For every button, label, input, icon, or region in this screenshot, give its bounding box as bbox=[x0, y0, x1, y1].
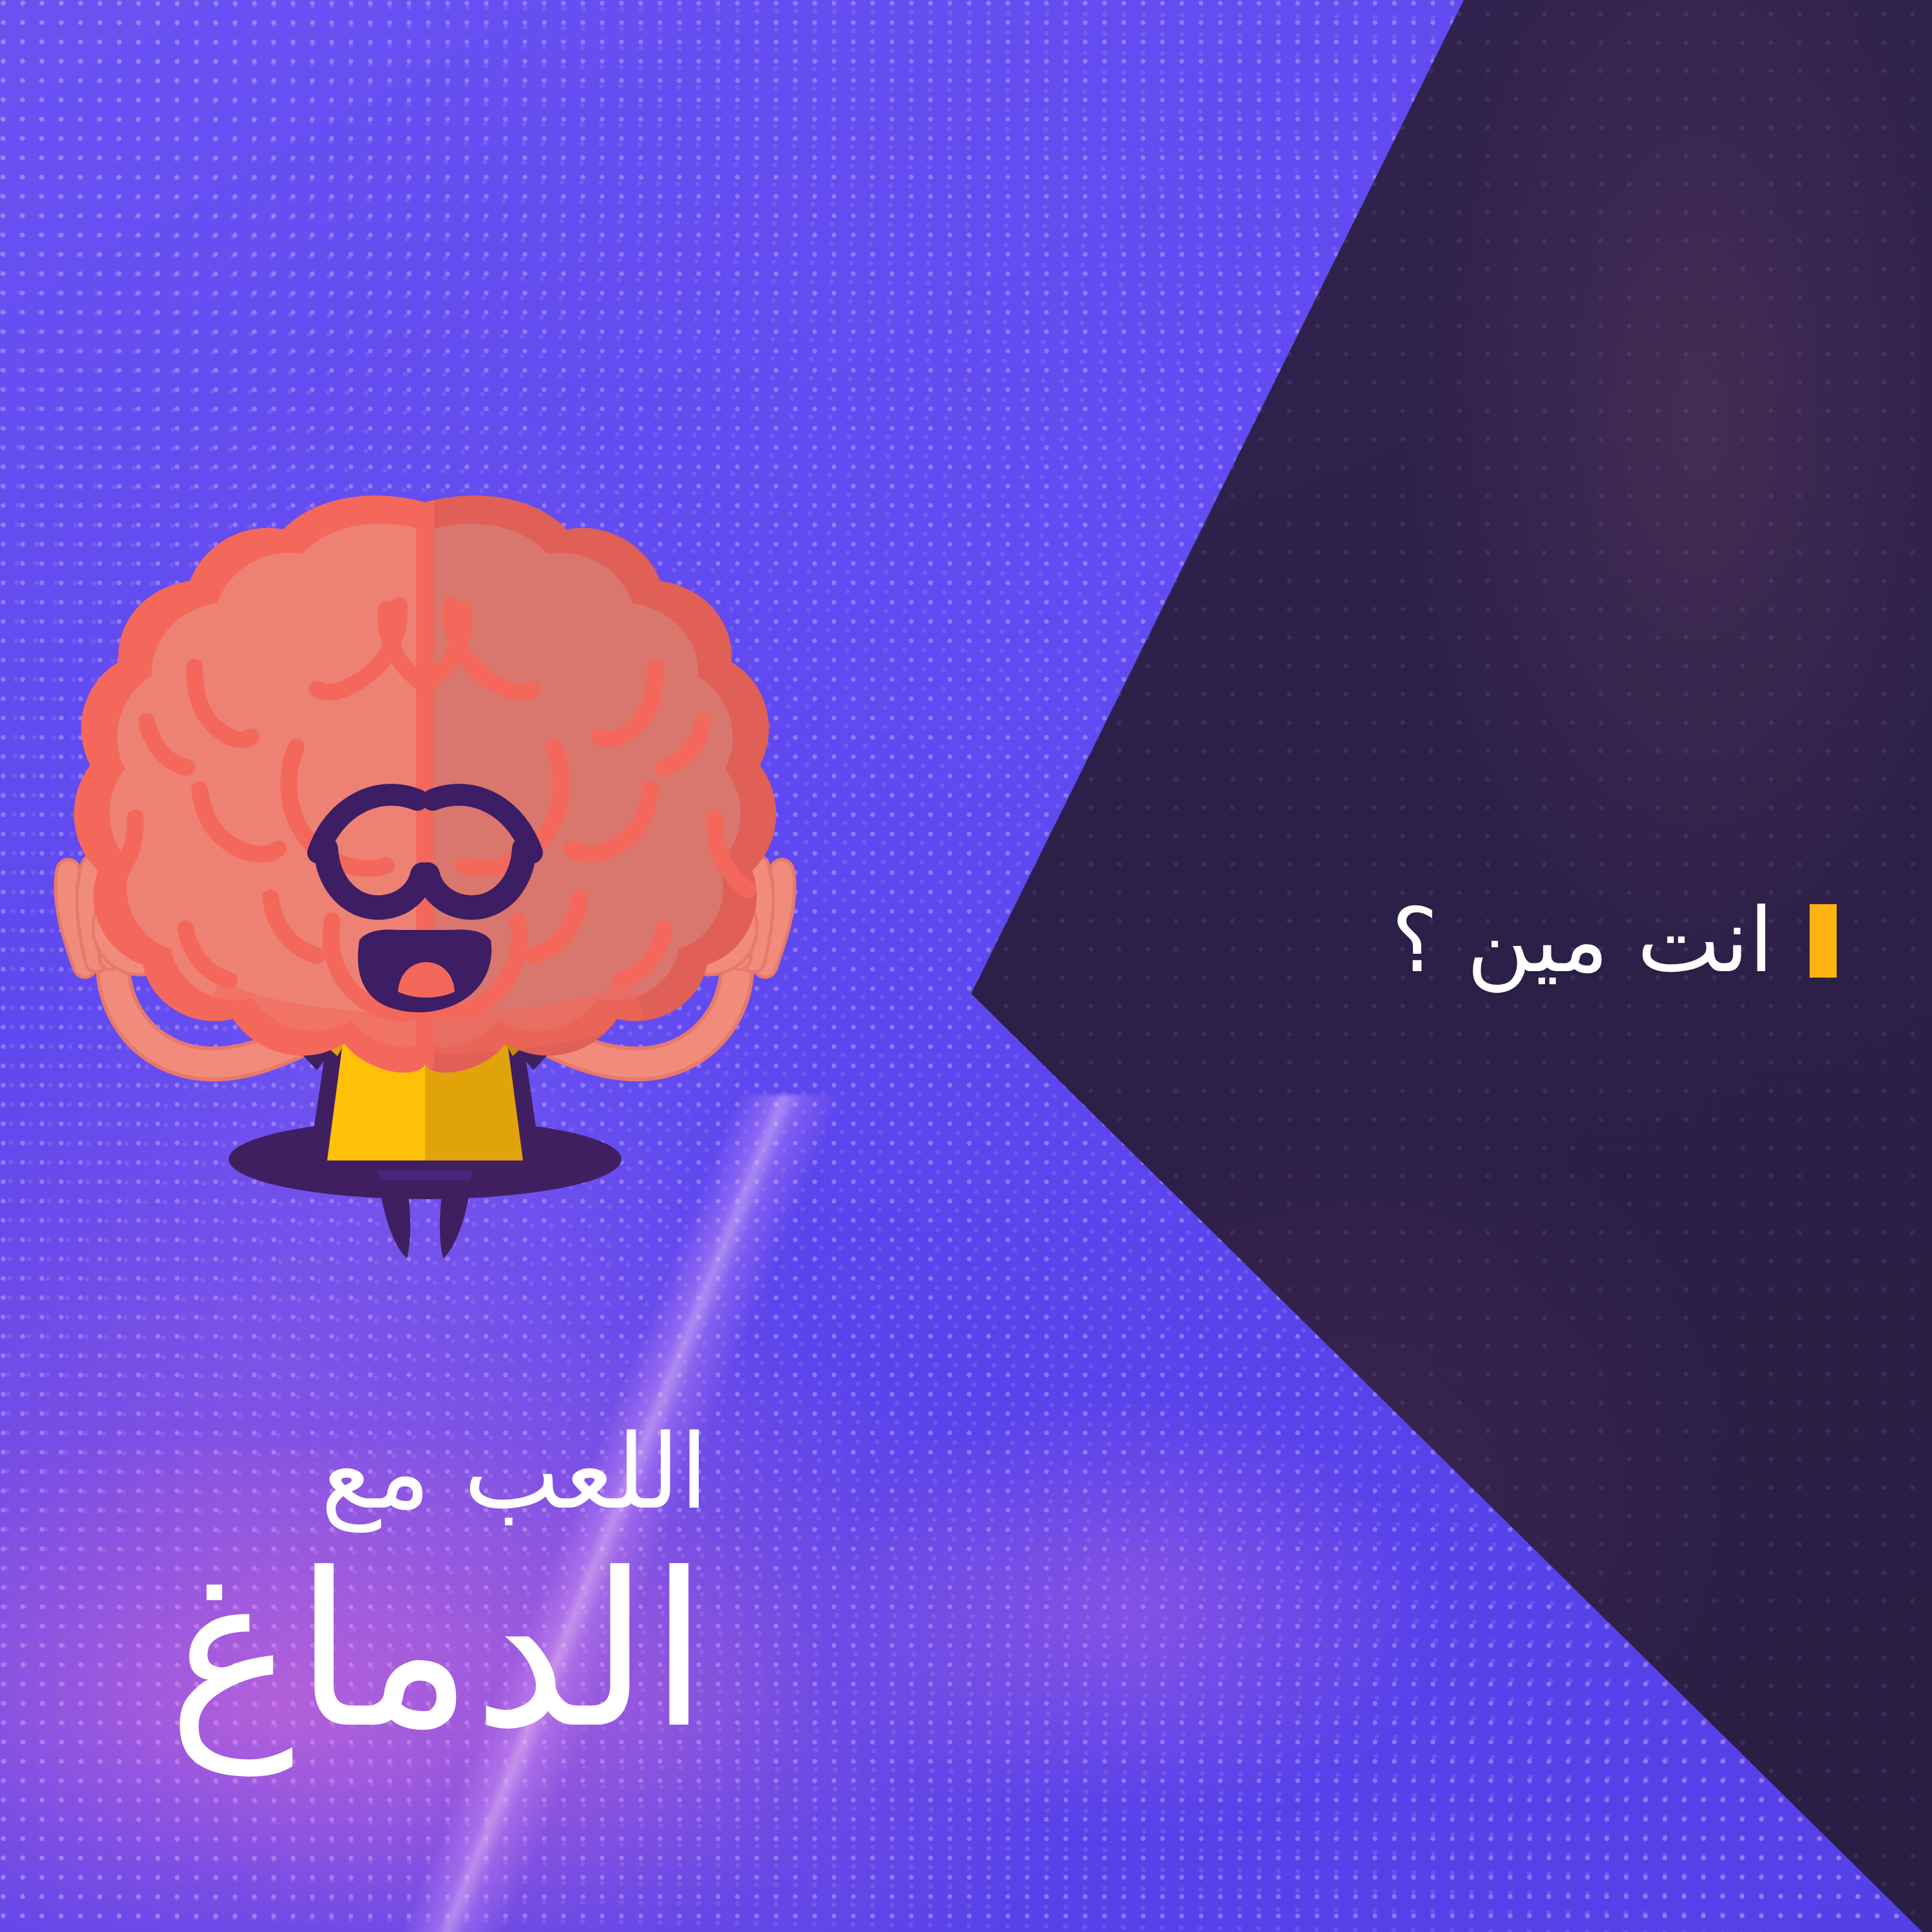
left-foot bbox=[379, 1180, 410, 1258]
headline-text: انت مين ؟ bbox=[1391, 896, 1774, 985]
bottom-title-line-big: الدماغ bbox=[0, 1540, 708, 1763]
headline-row: انت مين ؟ bbox=[1391, 896, 1837, 985]
brain-character-svg bbox=[26, 477, 824, 1288]
bottom-title: اللعب مع الدماغ bbox=[0, 1417, 747, 1763]
right-foot bbox=[440, 1180, 471, 1258]
accent-bar-icon bbox=[1810, 904, 1837, 978]
bottom-title-line-small: اللعب مع bbox=[0, 1417, 708, 1528]
poster-canvas: انت مين ؟ اللعب مع الدماغ bbox=[0, 0, 1932, 1932]
meditating-brain-illustration bbox=[26, 477, 824, 1288]
